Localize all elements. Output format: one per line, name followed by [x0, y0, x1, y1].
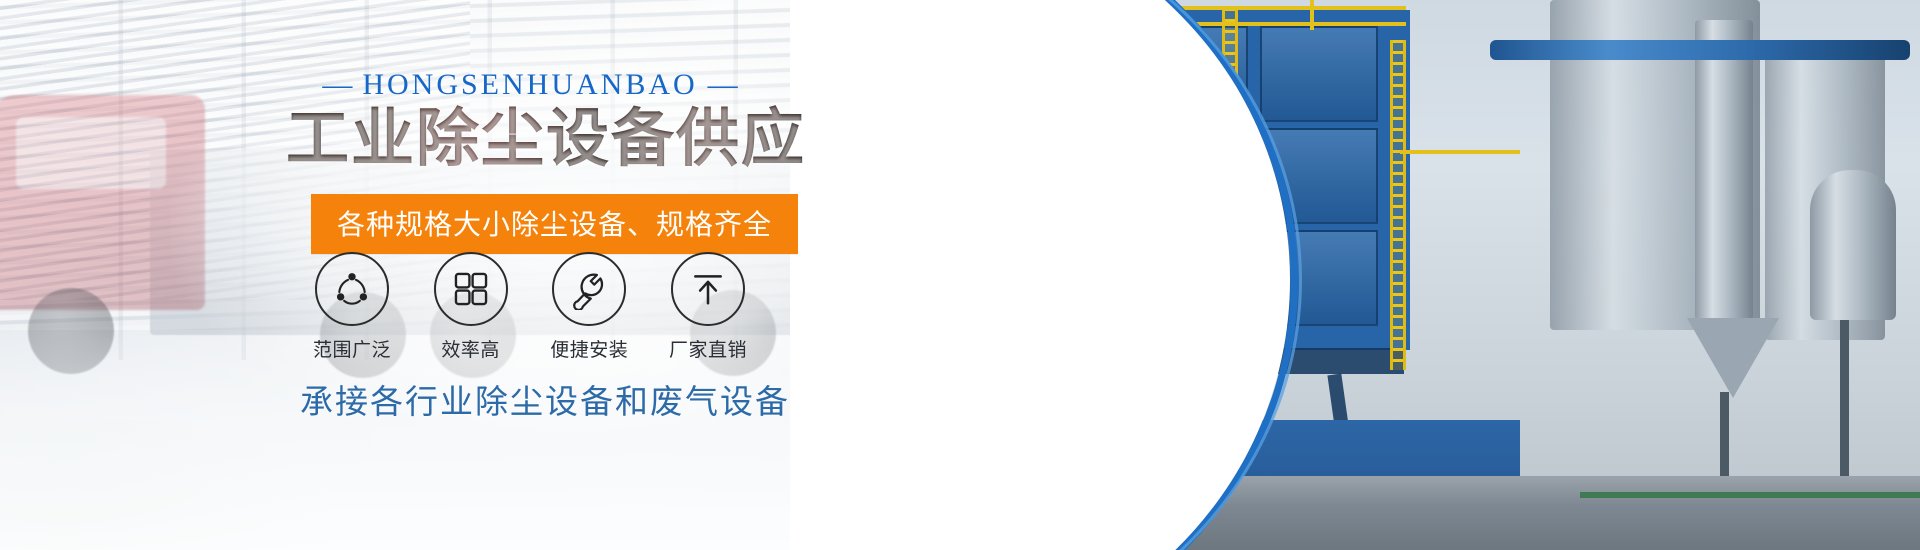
hero-banner: —HONGSENHUANBAO— 工业除尘设备供应商 各种规格大小除尘设备、规格…: [0, 0, 1920, 550]
cyclone-vessel: [1695, 20, 1753, 320]
dash-left-icon: —: [312, 68, 362, 101]
overhead-duct: [1490, 40, 1910, 60]
banner-text-block: —HONGSENHUANBAO— 工业除尘设备供应商 各种规格大小除尘设备、规格…: [0, 0, 1120, 550]
brand-eyebrow: —HONGSENHUANBAO—: [300, 68, 760, 102]
wrench-icon: [552, 252, 626, 326]
cyclone-vessel: [1810, 170, 1896, 320]
feature-label: 厂家直销: [656, 335, 760, 362]
guard-rail: [1400, 150, 1520, 154]
feature-label: 范围广泛: [300, 335, 404, 362]
grid-squares-icon: [434, 252, 508, 326]
feature-label: 便捷安装: [537, 335, 641, 362]
feature-item-efficiency[interactable]: 效率高: [419, 252, 523, 362]
feature-item-scope[interactable]: 范围广泛: [300, 252, 404, 362]
arrow-up-bar-icon: [671, 252, 745, 326]
brand-eyebrow-text: HONGSENHUANBAO: [362, 68, 697, 101]
cyclone-cone: [1687, 318, 1779, 398]
subtitle-highlight-bar: 各种规格大小除尘设备、规格齐全: [311, 194, 798, 254]
feature-item-direct-sales[interactable]: 厂家直销: [656, 252, 760, 362]
guard-rail-post: [1310, 0, 1314, 30]
access-ladder: [1390, 40, 1406, 370]
feature-label: 效率高: [419, 335, 523, 362]
share-nodes-icon: [315, 252, 389, 326]
support-leg: [1720, 392, 1729, 482]
page-title: 工业除尘设备供应商: [286, 105, 806, 173]
dash-right-icon: —: [698, 68, 748, 101]
green-fence-rail: [1580, 492, 1920, 498]
tagline: 承接各行业除尘设备和废气设备: [300, 375, 770, 423]
baghouse-panel: [1260, 26, 1378, 122]
feature-item-installation[interactable]: 便捷安装: [537, 252, 641, 362]
support-leg: [1840, 320, 1849, 480]
feature-list: 范围广泛 效率高: [300, 252, 760, 362]
